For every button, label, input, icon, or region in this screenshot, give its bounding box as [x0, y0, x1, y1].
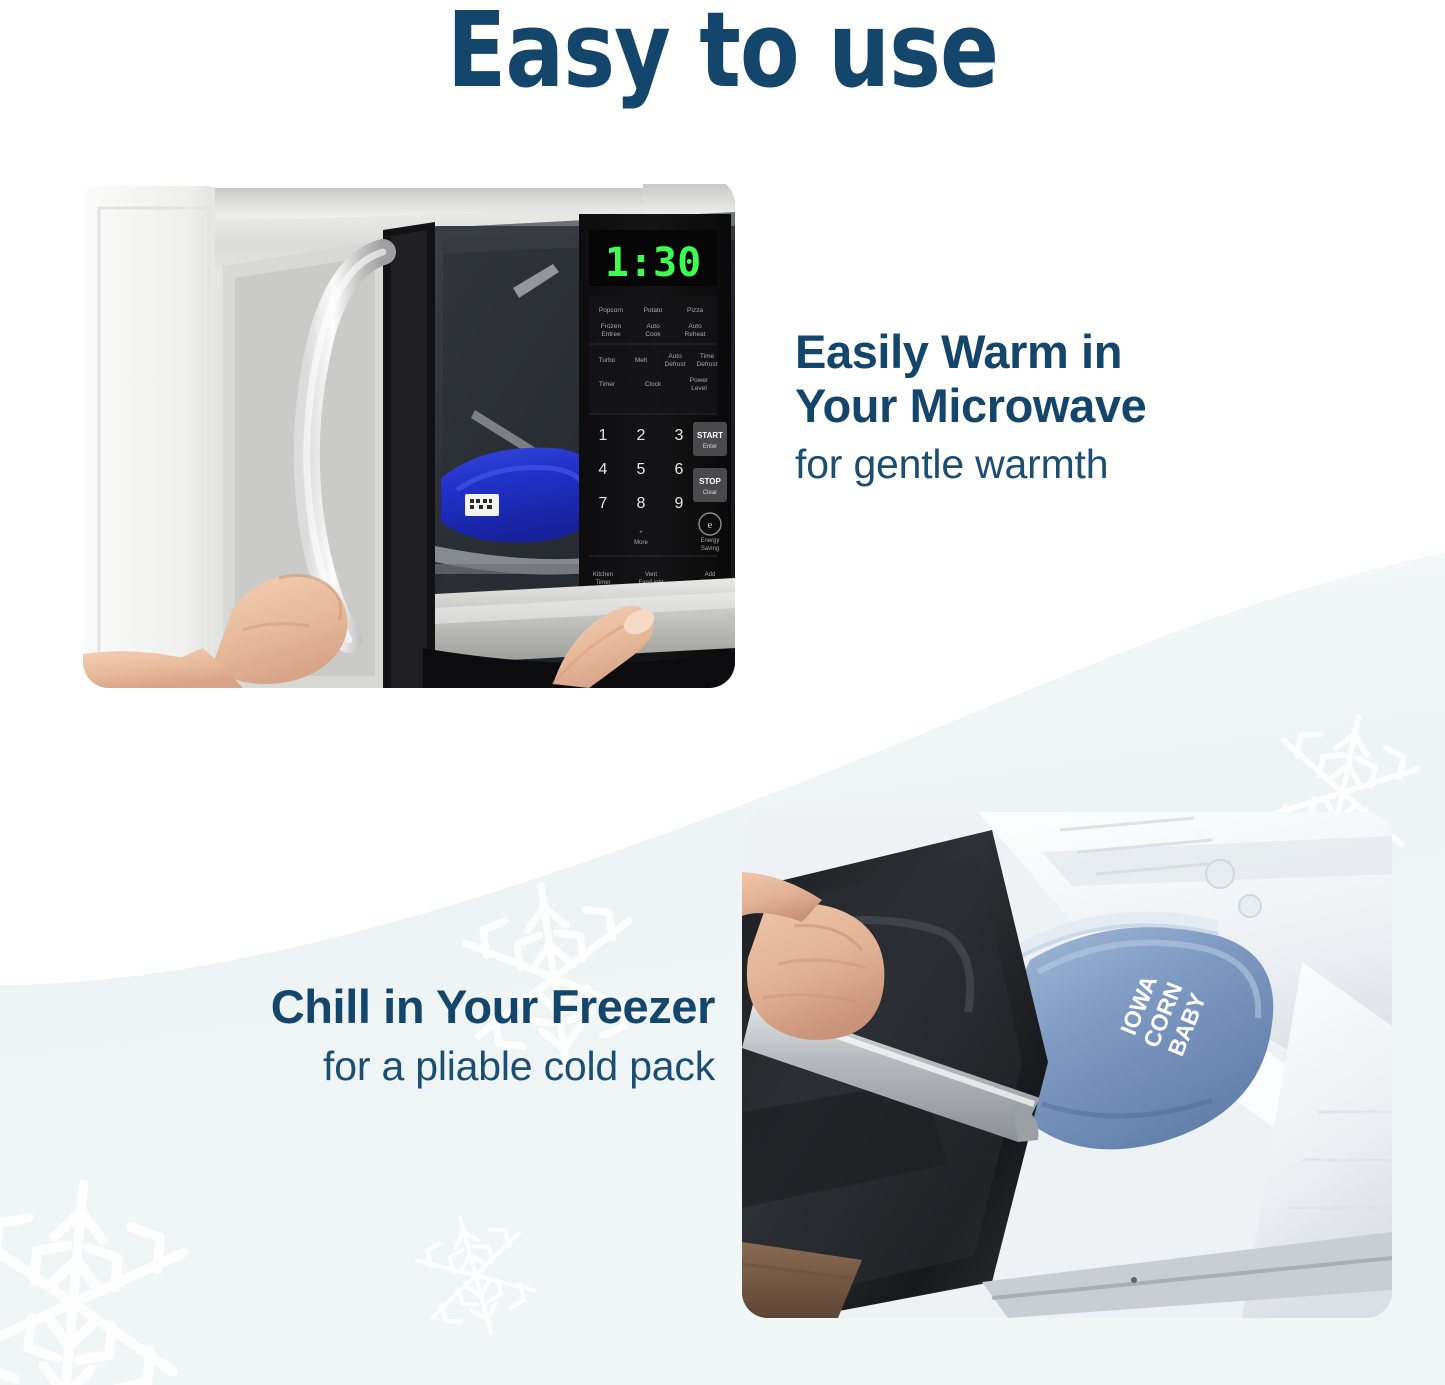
svg-text:Clear: Clear: [703, 490, 717, 496]
infographic-page: Easy to use: [0, 0, 1445, 1385]
svg-text:9: 9: [675, 495, 684, 512]
svg-text:Saving: Saving: [701, 546, 719, 552]
svg-text:Time: Time: [700, 353, 715, 360]
microwave-headline-line1: Easily Warm in: [795, 325, 1122, 378]
svg-text:+: +: [639, 530, 643, 536]
svg-text:Power: Power: [690, 377, 709, 384]
svg-text:1: 1: [599, 427, 608, 444]
svg-text:Auto: Auto: [668, 353, 682, 360]
svg-text:START: START: [697, 431, 723, 440]
svg-text:2: 2: [637, 427, 646, 444]
microwave-copy-block: Easily Warm in Your Microwave for gentle…: [795, 325, 1365, 489]
svg-text:Clock: Clock: [645, 381, 662, 388]
svg-text:Popcorn: Popcorn: [599, 307, 624, 314]
svg-text:Cook: Cook: [645, 331, 661, 338]
svg-text:8: 8: [637, 495, 646, 512]
svg-text:Defrost: Defrost: [697, 361, 718, 368]
svg-text:6: 6: [675, 461, 684, 478]
svg-text:Defrost: Defrost: [665, 361, 686, 368]
svg-text:Auto: Auto: [688, 323, 702, 330]
svg-text:Level: Level: [691, 385, 707, 392]
svg-text:3: 3: [675, 427, 684, 444]
svg-text:Frozen: Frozen: [601, 323, 622, 330]
svg-text:STOP: STOP: [699, 477, 721, 486]
svg-text:Timer: Timer: [599, 381, 616, 388]
svg-text:e: e: [708, 519, 713, 531]
microwave-photo: 1:30 PopcornPotatoPizza FrozenEntree Aut…: [83, 178, 735, 688]
svg-text:Potato: Potato: [644, 307, 663, 314]
freezer-copy-block: Chill in Your Freezer for a pliable cold…: [60, 980, 715, 1091]
freezer-photo: IOWA CORN BABY: [742, 812, 1392, 1318]
svg-text:Enter: Enter: [703, 444, 717, 450]
svg-text:Reheat: Reheat: [685, 331, 706, 338]
svg-text:Add: Add: [705, 572, 716, 578]
svg-text:Auto: Auto: [646, 323, 660, 330]
freezer-headline: Chill in Your Freezer: [60, 980, 715, 1034]
svg-text:Entree: Entree: [601, 331, 621, 338]
svg-text:4: 4: [599, 461, 608, 478]
svg-text:5: 5: [637, 461, 646, 478]
svg-text:Energy: Energy: [700, 538, 719, 544]
page-title: Easy to use: [51, 0, 1395, 106]
svg-text:Melt: Melt: [635, 357, 647, 364]
svg-text:7: 7: [599, 495, 608, 512]
svg-text:Kitchen: Kitchen: [593, 572, 613, 578]
svg-text:Pizza: Pizza: [687, 307, 703, 314]
svg-text:More: More: [634, 540, 648, 546]
microwave-headline: Easily Warm in Your Microwave: [795, 325, 1365, 432]
svg-text:Vent: Vent: [645, 572, 657, 578]
svg-text:Turbo: Turbo: [599, 357, 616, 364]
microwave-display-value: 1:30: [605, 240, 701, 286]
microwave-headline-line2: Your Microwave: [795, 379, 1146, 432]
microwave-subline: for gentle warmth: [795, 440, 1365, 489]
freezer-subline: for a pliable cold pack: [60, 1042, 715, 1091]
